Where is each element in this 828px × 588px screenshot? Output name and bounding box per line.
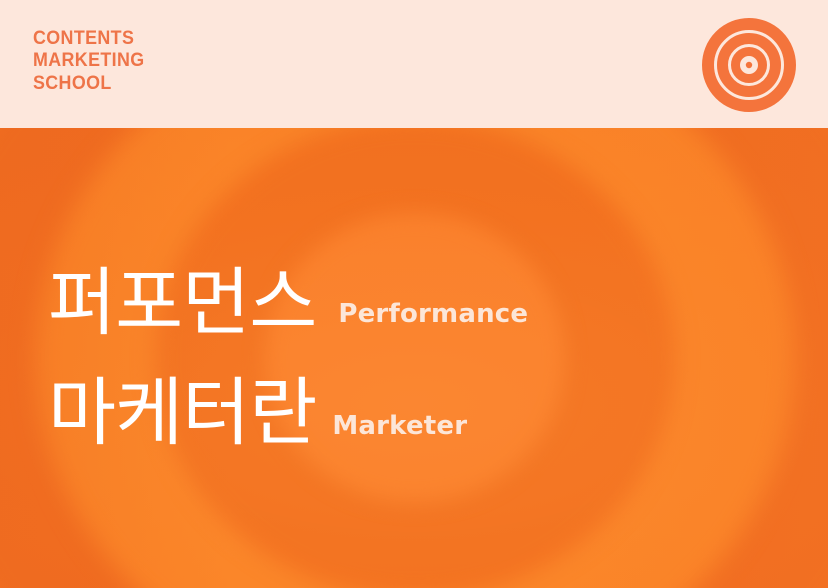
brand-line-2: MARKETING [33, 50, 145, 72]
target-rings-icon [701, 17, 797, 113]
slide-canvas: 퍼포먼스 Performance 마케터란 Marketer CONTENTS … [0, 0, 828, 588]
brand-wordmark: CONTENTS MARKETING SCHOOL [33, 28, 152, 95]
brand-line-1: CONTENTS [33, 28, 145, 50]
brand-line-3: SCHOOL [33, 73, 145, 95]
background-ring-6 [265, 213, 565, 503]
header-bar: CONTENTS MARKETING SCHOOL [0, 0, 828, 128]
background-ring-pattern [0, 128, 828, 588]
